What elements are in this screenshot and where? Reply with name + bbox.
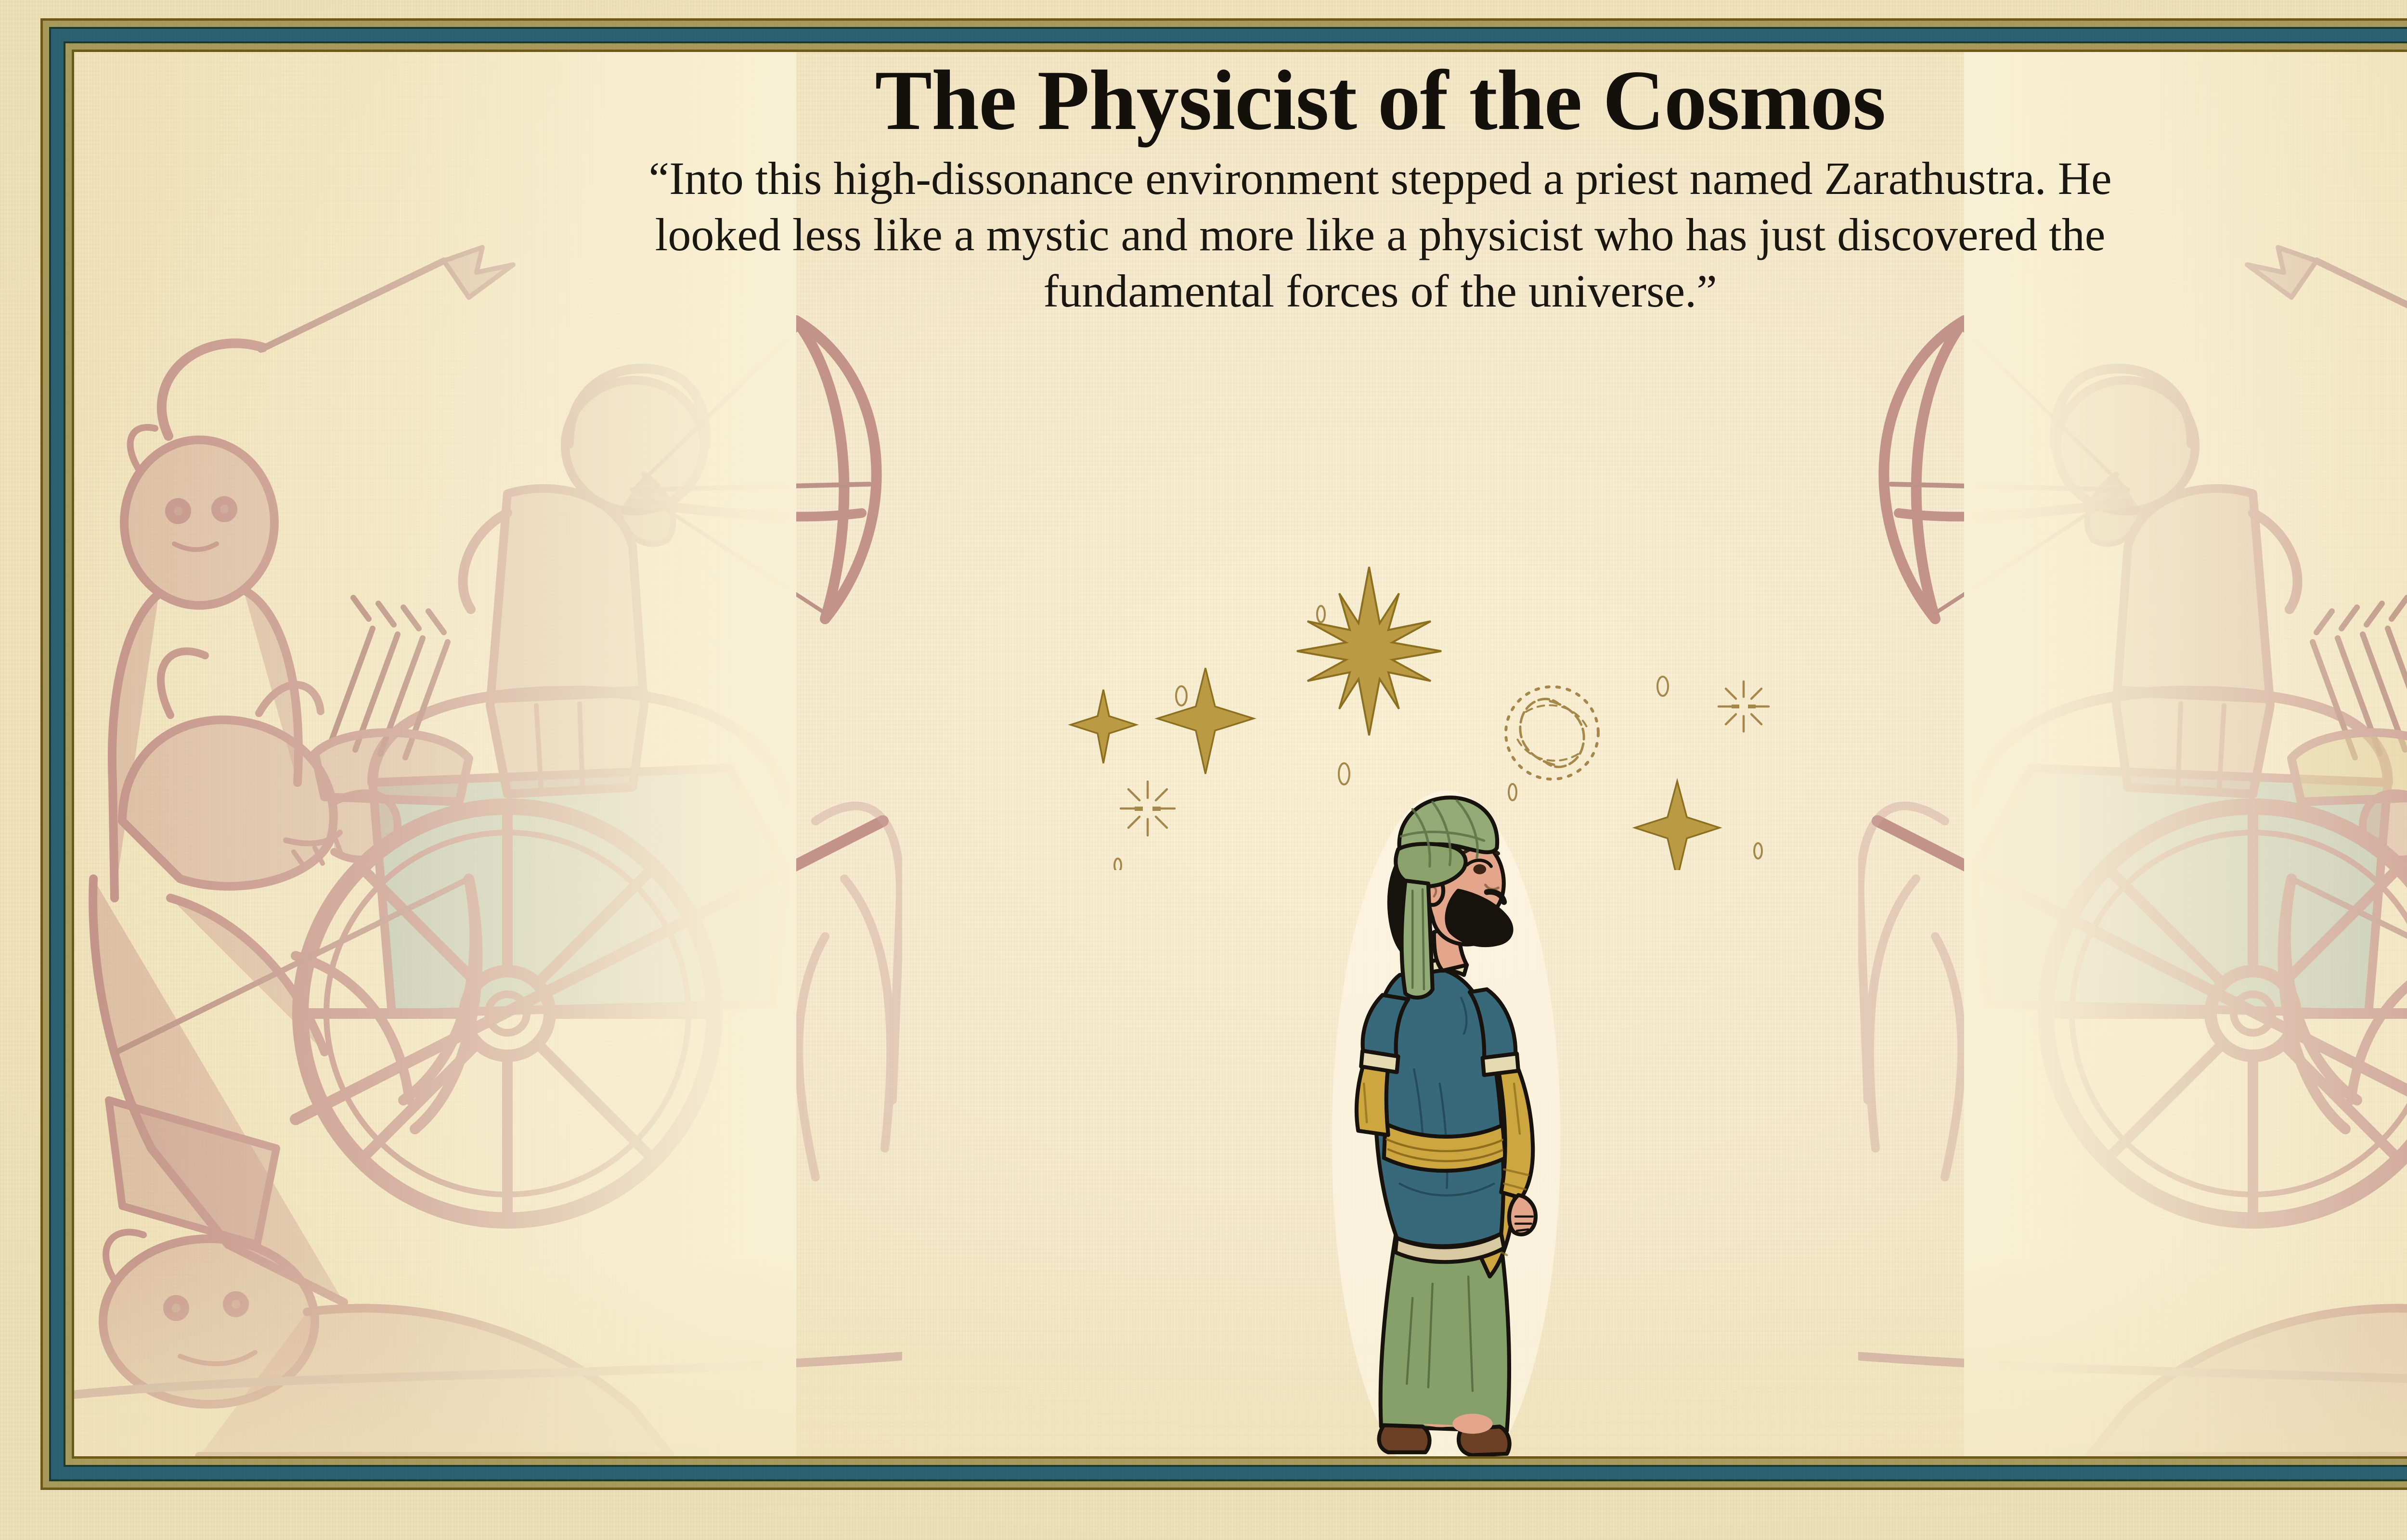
heading-block: The Physicist of the Cosmos “Into this h…: [74, 57, 2407, 319]
page-title: The Physicist of the Cosmos: [74, 57, 2407, 144]
slide-canvas: The Physicist of the Cosmos “Into this h…: [0, 0, 2407, 1540]
quote-text: “Into this high-dissonance environment s…: [172, 150, 2407, 319]
right-battle-frieze: [1858, 211, 2407, 1456]
quote-line-2: looked less like a mystic and more like …: [201, 206, 2407, 263]
left-battle-frieze: [74, 211, 902, 1456]
zarathustra-figure: [1292, 783, 1600, 1456]
decorative-frame: The Physicist of the Cosmos “Into this h…: [40, 18, 2407, 1490]
quote-line-3: fundamental forces of the universe.”: [201, 263, 2407, 319]
quote-line-1: “Into this high-dissonance environment s…: [201, 150, 2407, 206]
slide-content-area: The Physicist of the Cosmos “Into this h…: [74, 52, 2407, 1456]
